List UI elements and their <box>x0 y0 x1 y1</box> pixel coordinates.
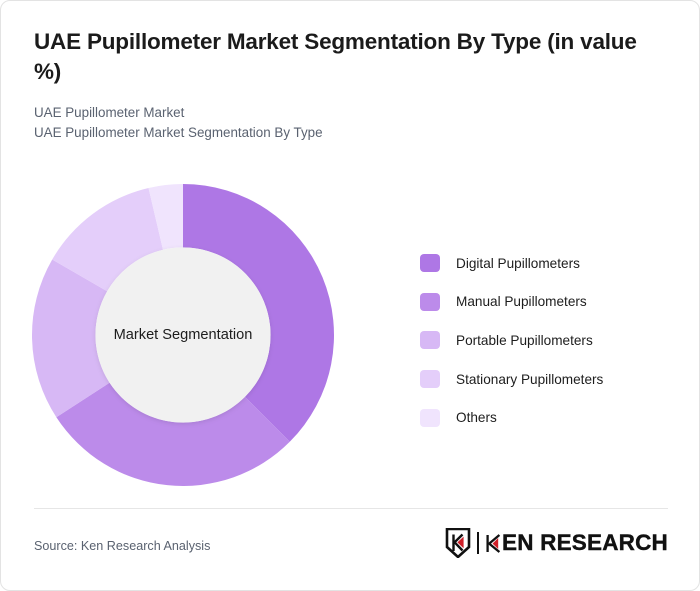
logo-separator <box>477 532 479 554</box>
legend-color-swatch <box>420 254 440 272</box>
ken-research-logo: EN RESEARCH <box>445 528 668 558</box>
chart-header: UAE Pupillometer Market Segmentation By … <box>34 27 664 144</box>
legend-color-swatch <box>420 370 440 388</box>
donut-svg <box>32 184 334 486</box>
legend-item[interactable]: Manual Pupillometers <box>420 283 675 322</box>
brand-wordmark: EN RESEARCH <box>486 532 668 555</box>
legend-item-label: Stationary Pupillometers <box>456 372 603 387</box>
donut-chart: Market Segmentation <box>32 184 334 486</box>
legend-item[interactable]: Portable Pupillometers <box>420 321 675 360</box>
chart-card: UAE Pupillometer Market Segmentation By … <box>0 0 700 591</box>
ken-research-shield-icon <box>445 528 471 558</box>
legend-color-swatch <box>420 409 440 427</box>
page-title: UAE Pupillometer Market Segmentation By … <box>34 27 664 87</box>
source-note: Source: Ken Research Analysis <box>34 539 210 553</box>
subtitle-group: UAE Pupillometer Market UAE Pupillometer… <box>34 103 664 144</box>
legend-item[interactable]: Stationary Pupillometers <box>420 360 675 399</box>
subtitle-segmentation: UAE Pupillometer Market Segmentation By … <box>34 123 664 143</box>
donut-hole <box>96 248 271 423</box>
legend-item-label: Digital Pupillometers <box>456 256 580 271</box>
legend-item-label: Others <box>456 410 497 425</box>
brand-name-text: EN RESEARCH <box>502 532 668 555</box>
legend-item[interactable]: Others <box>420 398 675 437</box>
chart-legend: Digital PupillometersManual Pupillometer… <box>420 244 675 437</box>
brand-k-icon <box>486 534 501 553</box>
subtitle-market: UAE Pupillometer Market <box>34 103 664 123</box>
footer-divider <box>34 508 668 509</box>
legend-color-swatch <box>420 293 440 311</box>
legend-item-label: Manual Pupillometers <box>456 294 587 309</box>
legend-item[interactable]: Digital Pupillometers <box>420 244 675 283</box>
legend-color-swatch <box>420 331 440 349</box>
legend-item-label: Portable Pupillometers <box>456 333 593 348</box>
